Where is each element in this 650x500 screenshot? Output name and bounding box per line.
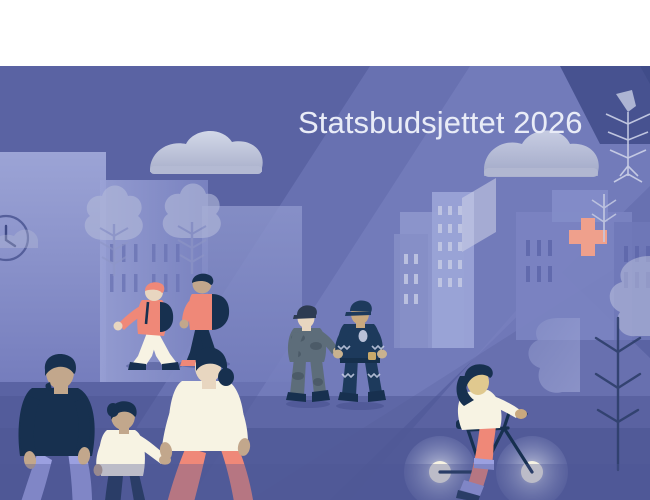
page-title: Statsbudsjettet 2026 [298, 104, 583, 142]
top-white-band [0, 0, 650, 66]
statsbudsjettet-banner: Statsbudsjettet 2026 [0, 0, 650, 500]
